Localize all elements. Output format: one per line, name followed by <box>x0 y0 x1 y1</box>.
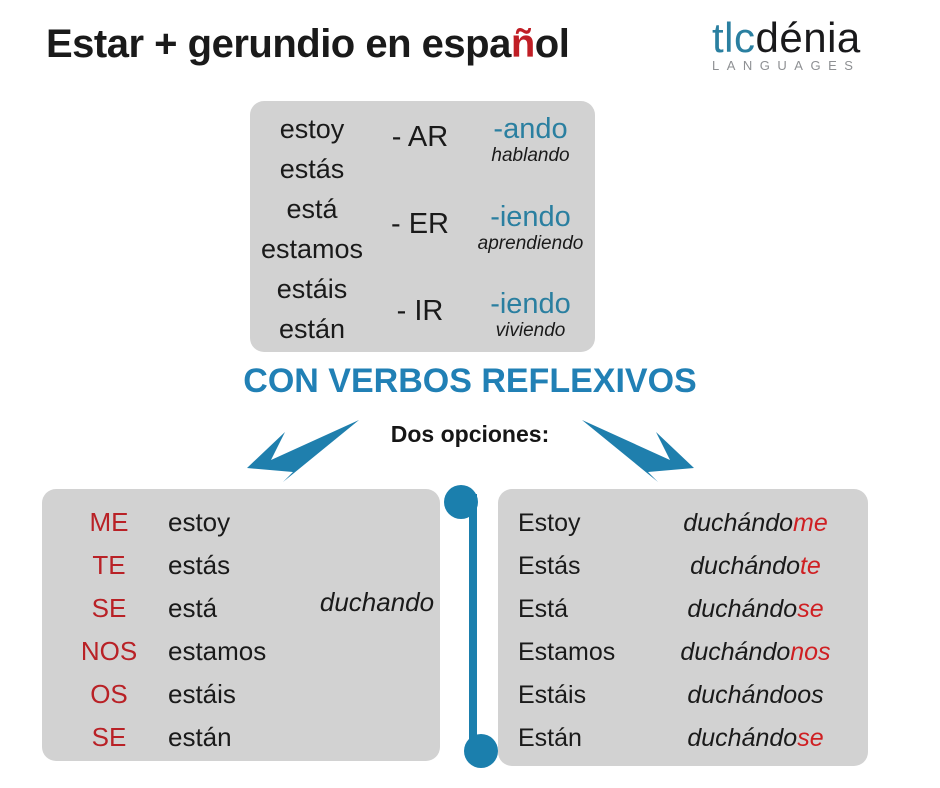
table-row: Estás duchándote <box>498 545 868 588</box>
gerund-with-pronoun: duchándoos <box>658 674 853 717</box>
conjugation-persons-column: estoy estás está estamos estáis están <box>250 109 374 349</box>
person-item: estáis <box>250 269 374 309</box>
option-one-panel: ME TE SE NOS OS SE estoy estás está esta… <box>42 489 440 761</box>
verb-item: Estamos <box>518 631 658 674</box>
reflexive-pronouns-column: ME TE SE NOS OS SE <box>50 501 168 759</box>
gerund-suffix: -iendo <box>466 288 595 320</box>
verb-item: estás <box>168 544 318 587</box>
gerund-suffix: -iendo <box>466 201 595 233</box>
table-row: Estoy duchándome <box>498 502 868 545</box>
attached-pronoun: se <box>797 595 823 623</box>
reflexive-section-heading: CON VERBOS REFLEXIVOS <box>0 362 940 401</box>
gerund-suffix: -ando <box>466 113 595 145</box>
verb-item: estoy <box>168 501 318 544</box>
bracket-connector-icon <box>444 484 498 769</box>
gerund-stem: duchándo <box>687 595 797 623</box>
person-item: está <box>250 189 374 229</box>
conjugation-grid: estoy estás está estamos estáis están - … <box>250 101 595 352</box>
gerund-endings-column: -ando hablando -iendo aprendiendo -iendo… <box>466 101 595 352</box>
attached-pronoun: nos <box>790 638 830 666</box>
gerund-stem: duchándo <box>687 681 797 709</box>
reflexive-pronoun-item: NOS <box>50 630 168 673</box>
brand-logo: tlcdénia LANGUAGES <box>712 16 940 82</box>
page-title-part-2: ol <box>535 22 570 66</box>
table-row: Están duchándose <box>498 717 868 760</box>
table-row: Estamos duchándonos <box>498 631 868 674</box>
verb-item: Están <box>518 717 658 760</box>
gerund-group-er: -iendo aprendiendo <box>466 201 595 255</box>
verb-item: estamos <box>168 630 318 673</box>
page-title-part-1: Estar + gerundio en espa <box>46 22 511 66</box>
reflexive-pronoun-item: OS <box>50 673 168 716</box>
logo-wordmark: tlcdénia <box>712 16 940 60</box>
reflexive-pronoun-item: TE <box>50 544 168 587</box>
option-two-rows: Estoy duchándome Estás duchándote Está d… <box>498 502 868 760</box>
gerund-with-pronoun: duchándose <box>658 717 853 760</box>
gerund-with-pronoun: duchándonos <box>658 631 853 674</box>
table-row: Estáis duchándoos <box>498 674 868 717</box>
gerund-example: aprendiendo <box>466 233 595 255</box>
reflexive-pronoun-item: ME <box>50 501 168 544</box>
verb-ending-ar: - AR <box>374 121 466 154</box>
attached-pronoun: se <box>797 724 823 752</box>
option-one-gerund: duchando <box>318 587 436 618</box>
gerund-with-pronoun: duchándote <box>658 545 853 588</box>
two-options-label: Dos opciones: <box>0 421 940 448</box>
attached-pronoun: me <box>793 509 828 537</box>
verb-item: Estoy <box>518 502 658 545</box>
page-header: Estar + gerundio en español tlcdénia LAN… <box>0 0 940 92</box>
gerund-example: hablando <box>466 145 595 167</box>
logo-denia-text: dénia <box>756 14 861 61</box>
verb-item: Estás <box>518 545 658 588</box>
attached-pronoun: te <box>800 552 821 580</box>
arrow-down-left-icon <box>241 412 361 484</box>
person-item: están <box>250 309 374 349</box>
verb-item: está <box>168 587 318 630</box>
verb-item: están <box>168 716 318 759</box>
arrow-down-right-icon <box>580 412 700 484</box>
gerund-with-pronoun: duchándome <box>658 502 853 545</box>
gerund-stem: duchándo <box>680 638 790 666</box>
verb-ending-er: - ER <box>374 208 466 241</box>
reflexive-pronoun-item: SE <box>50 587 168 630</box>
person-item: estoy <box>250 109 374 149</box>
gerund-group-ir: -iendo viviendo <box>466 288 595 342</box>
verb-endings-column: - AR - ER - IR <box>374 101 466 352</box>
option-one-verbs-column: estoy estás está estamos estáis están <box>168 501 318 759</box>
table-row: Está duchándose <box>498 588 868 631</box>
verb-ending-ir: - IR <box>374 295 466 328</box>
gerund-stem: duchándo <box>683 509 793 537</box>
reflexive-pronoun-item: SE <box>50 716 168 759</box>
gerund-example: viviendo <box>466 320 595 342</box>
logo-subtitle: LANGUAGES <box>712 58 940 73</box>
verb-item: estáis <box>168 673 318 716</box>
page-title: Estar + gerundio en español <box>46 22 569 67</box>
gerund-stem: duchándo <box>690 552 800 580</box>
verb-item: Estáis <box>518 674 658 717</box>
gerund-with-pronoun: duchándose <box>658 588 853 631</box>
conjugation-panel: estoy estás está estamos estáis están - … <box>250 101 595 352</box>
person-item: estamos <box>250 229 374 269</box>
person-item: estás <box>250 149 374 189</box>
gerund-stem: duchándo <box>687 724 797 752</box>
gerund-group-ar: -ando hablando <box>466 113 595 167</box>
attached-pronoun: os <box>797 681 823 709</box>
logo-tlc-text: tlc <box>712 14 756 61</box>
option-two-panel: Estoy duchándome Estás duchándote Está d… <box>498 489 868 766</box>
page-title-accent-letter: ñ <box>511 22 535 66</box>
verb-item: Está <box>518 588 658 631</box>
